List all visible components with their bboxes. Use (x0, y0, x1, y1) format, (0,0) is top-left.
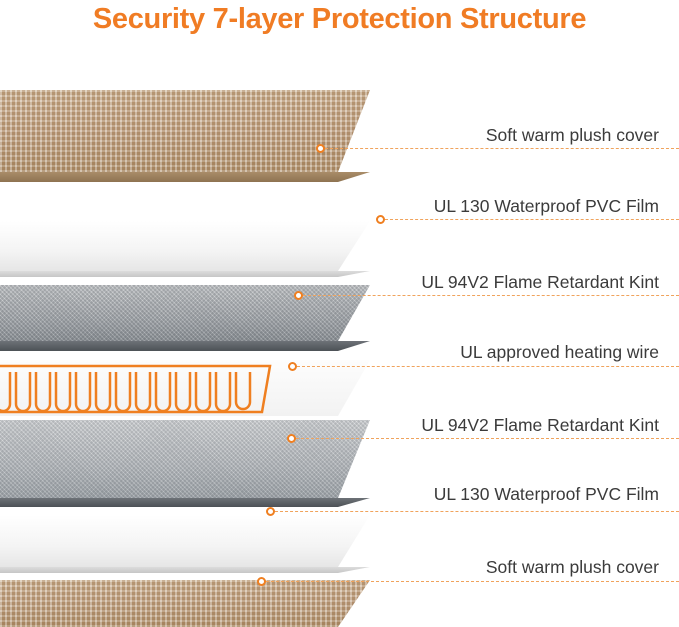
callout-dot-1 (316, 144, 325, 153)
callout-label-1: Soft warm plush cover (486, 125, 659, 146)
callout-dot-3 (294, 291, 303, 300)
callout-line-7 (266, 581, 679, 582)
callout-label-4: UL approved heating wire (460, 342, 659, 363)
callout-line-1 (325, 148, 679, 149)
callout-label-2: UL 130 Waterproof PVC Film (434, 196, 659, 217)
callout-line-3 (303, 295, 679, 296)
callout-label-6: UL 130 Waterproof PVC Film (434, 484, 659, 505)
callout-dot-5 (287, 434, 296, 443)
page-title: Security 7-layer Protection Structure (0, 0, 679, 36)
callout-label-7: Soft warm plush cover (486, 557, 659, 578)
callout-dot-6 (266, 507, 275, 516)
callout-line-2 (385, 219, 679, 220)
callout-label-3: UL 94V2 Flame Retardant Kint (421, 272, 659, 293)
callout-line-6 (275, 511, 679, 512)
callout-dot-4 (288, 362, 297, 371)
callout-line-4 (297, 366, 679, 367)
callout-dot-2 (376, 215, 385, 224)
callout-line-5 (296, 438, 679, 439)
callout-dot-7 (257, 577, 266, 586)
heating-wire-icon (0, 360, 370, 420)
diagram-canvas: Security 7-layer Protection Structure (0, 0, 679, 627)
callout-label-5: UL 94V2 Flame Retardant Kint (421, 415, 659, 436)
layer-stack-illustration (0, 90, 400, 627)
